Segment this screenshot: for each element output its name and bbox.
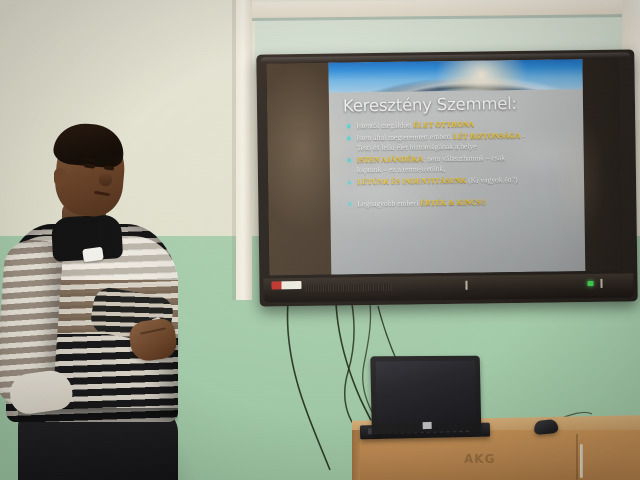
- slide-bullet: Legnagyobb emberi ÉRTÉK & KINCS!!: [346, 196, 578, 209]
- display-speaker-grille: [305, 284, 391, 292]
- presenter-ear: [54, 168, 66, 186]
- banner-glare: [436, 59, 527, 93]
- display-sticker: [271, 281, 301, 289]
- bullet-highlight-text: LÉTÜNK ÉS INDENTITÁSUNK: [357, 176, 466, 187]
- clerical-collar-tab: [82, 247, 104, 263]
- laptop-screen: [376, 361, 477, 423]
- bullet-text: Isten által megteremtett emberi: [356, 132, 453, 142]
- cabinet-door-seam: [576, 434, 578, 480]
- display-bezel-marker-right: [600, 279, 602, 288]
- bullet-text: Istentől megáldott: [356, 120, 413, 130]
- presenter-nose: [99, 172, 112, 186]
- slide-bullet: Istentől megáldott ÉLET OTTHONA: [345, 118, 577, 131]
- bullet-highlight-text: ÉRTÉK & KINCS!!: [420, 197, 486, 207]
- bullet-highlight-text: LÉT BIZTONSÁGA: [453, 131, 521, 141]
- presenter: [0, 120, 210, 480]
- bullet-text: Legnagyobb emberi: [357, 198, 420, 208]
- display-panel: Keresztény Szemmel: Istentől megáldott É…: [266, 59, 621, 276]
- bullet-highlight-text: ISTEN AJÁNDÉKA: [357, 155, 424, 165]
- bullet-highlight-text: ÉLET OTTHONA: [413, 120, 474, 130]
- wall-mounted-display[interactable]: Keresztény Szemmel: Istentől megáldott É…: [256, 49, 637, 306]
- wall-pillar: [236, 0, 252, 300]
- slide-bullet: LÉTÜNK ÉS INDENTITÁSUNK (Ki vagyok én?): [346, 175, 578, 188]
- laptop-logo-icon: [423, 422, 432, 429]
- display-bezel-marker-left: [465, 281, 467, 290]
- laptop[interactable]: [370, 356, 481, 434]
- cabinet-label: AKG: [464, 452, 495, 466]
- slide-header-banner: [328, 59, 582, 93]
- classroom-presentation-photo: Keresztény Szemmel: Istentől megáldott É…: [0, 0, 640, 480]
- cabinet-left-edge: [352, 430, 360, 480]
- slide-bullet-list: Istentől megáldott ÉLET OTTHONAIsten ált…: [345, 118, 578, 211]
- bullet-text: : nem választhatunk – csak: [423, 153, 505, 163]
- slide-body: Keresztény Szemmel: Istentől megáldott É…: [329, 89, 586, 275]
- slide-bullet-continuation: kaptunk – ez a természetünk,: [346, 163, 578, 176]
- bullet-text: (Ki vagyok én?): [466, 175, 517, 185]
- presenter-hair: [52, 121, 125, 169]
- slide-bullet-continuation: Testi és lelki élet biztonságának a hely…: [346, 140, 578, 153]
- slide-title: Keresztény Szemmel:: [343, 94, 517, 115]
- presentation-slide: Keresztény Szemmel: Istentől megáldott É…: [328, 59, 585, 275]
- display-power-led-icon: [587, 281, 593, 286]
- bullet-text: -: [520, 131, 525, 140]
- cabinet-handle[interactable]: [580, 444, 583, 478]
